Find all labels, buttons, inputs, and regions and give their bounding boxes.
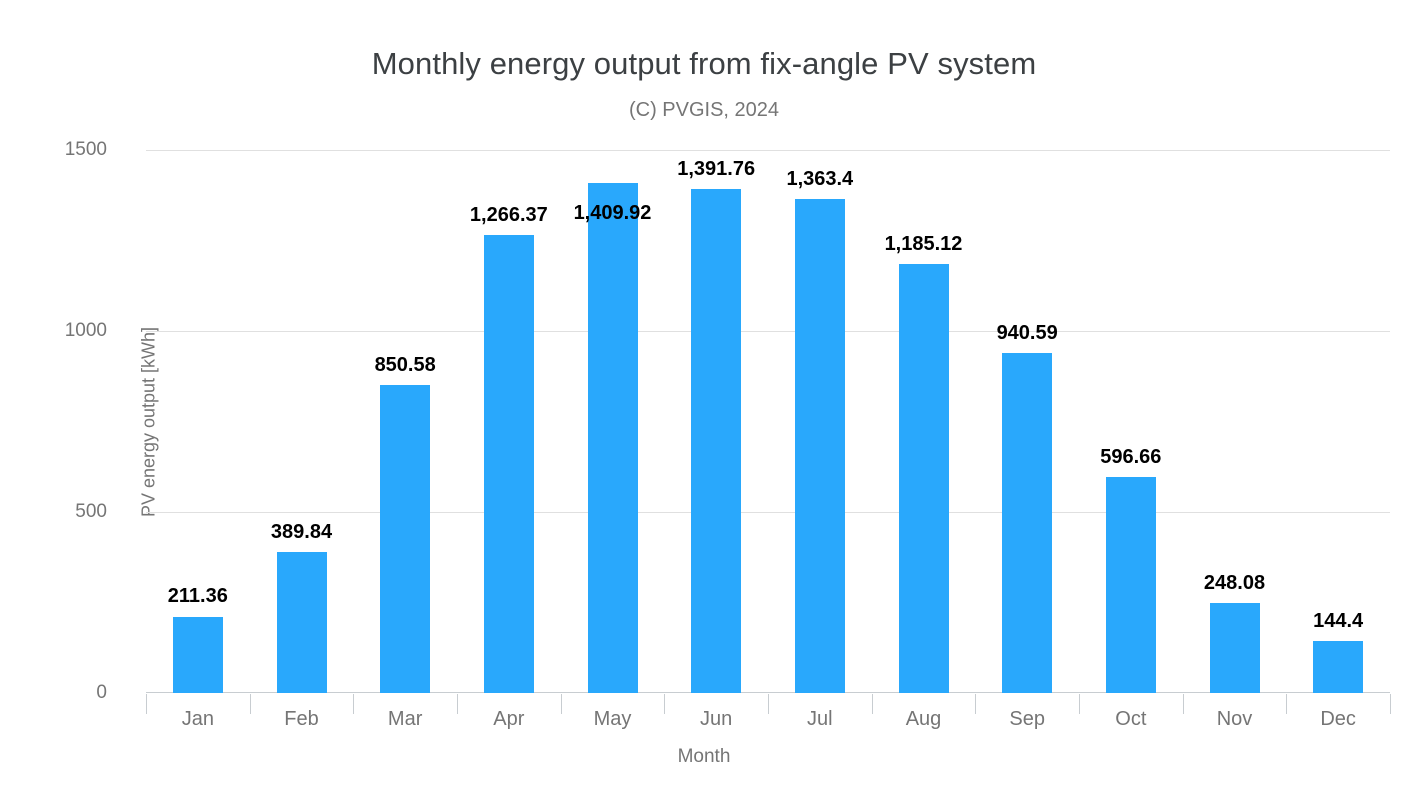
bar-value-label: 596.66 bbox=[1051, 446, 1211, 469]
bar-value-label: 1,185.12 bbox=[844, 233, 1004, 256]
bar-chart: Monthly energy output from fix-angle PV … bbox=[0, 0, 1408, 800]
y-axis-tick-label: 0 bbox=[0, 682, 107, 704]
bar[interactable] bbox=[691, 189, 741, 693]
chart-subtitle: (C) PVGIS, 2024 bbox=[0, 99, 1408, 122]
plot-area: PV energy output [kWh] 050010001500 bbox=[146, 150, 1390, 693]
bar[interactable] bbox=[588, 183, 638, 693]
bar-value-label: 211.36 bbox=[118, 585, 278, 608]
bar-value-label: 144.4 bbox=[1258, 610, 1408, 633]
x-axis-line bbox=[146, 692, 1390, 693]
bar[interactable] bbox=[1210, 603, 1260, 693]
bar[interactable] bbox=[1106, 477, 1156, 693]
gridline bbox=[146, 150, 1390, 151]
bar-value-label: 940.59 bbox=[947, 322, 1107, 345]
x-axis-tick-label: Dec bbox=[1258, 708, 1408, 731]
y-axis-tick-label: 1000 bbox=[0, 320, 107, 342]
y-axis-tick-label: 1500 bbox=[0, 139, 107, 161]
y-axis-tick-label: 500 bbox=[0, 501, 107, 523]
bar[interactable] bbox=[277, 552, 327, 693]
x-axis-tick-mark bbox=[146, 694, 147, 714]
gridline bbox=[146, 331, 1390, 332]
bar[interactable] bbox=[1002, 353, 1052, 693]
gridline bbox=[146, 512, 1390, 513]
chart-title: Monthly energy output from fix-angle PV … bbox=[0, 46, 1408, 82]
bar[interactable] bbox=[1313, 641, 1363, 693]
bar[interactable] bbox=[899, 264, 949, 693]
x-axis-title: Month bbox=[0, 746, 1408, 768]
bar-value-label: 248.08 bbox=[1155, 572, 1315, 595]
bar[interactable] bbox=[173, 617, 223, 694]
y-axis-title: PV energy output [kWh] bbox=[139, 326, 160, 516]
bar[interactable] bbox=[484, 235, 534, 693]
bar-value-label: 1,363.4 bbox=[740, 168, 900, 191]
bar-value-label: 389.84 bbox=[222, 521, 382, 544]
bar-value-label: 1,409.92 bbox=[533, 202, 693, 225]
bar[interactable] bbox=[795, 199, 845, 693]
bar-value-label: 850.58 bbox=[325, 354, 485, 377]
bar[interactable] bbox=[380, 385, 430, 693]
